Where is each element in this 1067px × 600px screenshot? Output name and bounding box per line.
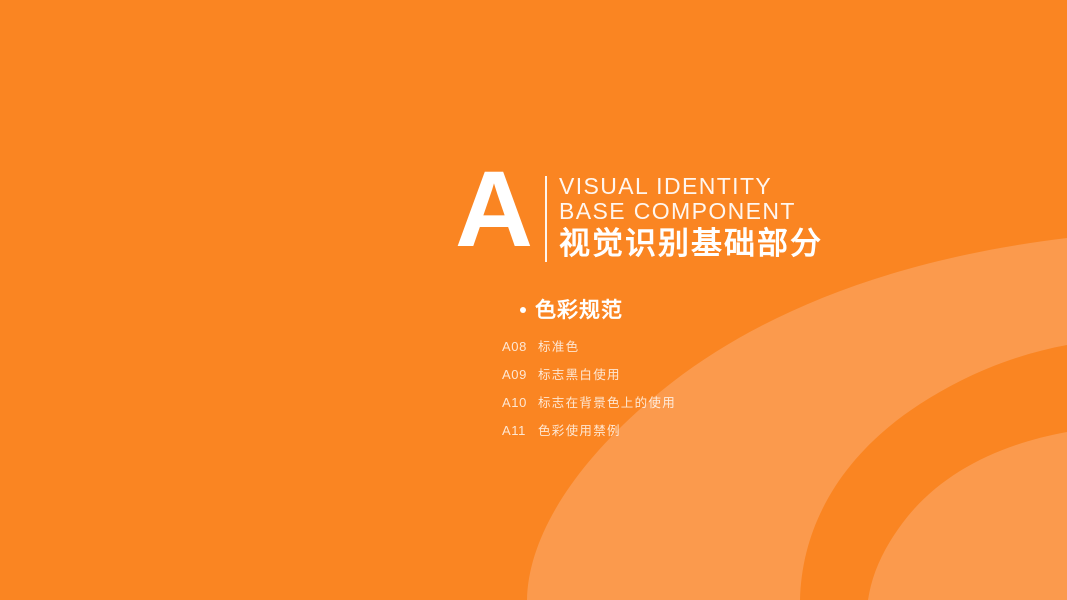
swirl-inner-core: [868, 432, 1067, 600]
section-letter: A: [455, 166, 545, 252]
list-item[interactable]: A11 色彩使用禁例: [502, 420, 676, 448]
list-item-code: A09: [502, 367, 538, 382]
chinese-title: 视觉识别基础部分: [559, 225, 823, 263]
bullet-dot-icon: [520, 307, 526, 313]
heading-text-group: VISUAL IDENTITY BASE COMPONENT 视觉识别基础部分: [547, 172, 823, 263]
list-item-label: 标志在背景色上的使用: [538, 392, 676, 411]
contents-list: A08 标准色 A09 标志黑白使用 A10 标志在背景色上的使用 A11 色彩…: [502, 336, 676, 448]
english-title-line-1: VISUAL IDENTITY: [559, 174, 823, 199]
english-title-line-2: BASE COMPONENT: [559, 199, 823, 224]
list-item[interactable]: A09 标志黑白使用: [502, 364, 676, 392]
list-item-label: 标准色: [538, 336, 579, 355]
list-item[interactable]: A08 标准色: [502, 336, 676, 364]
section-heading-label: 色彩规范: [535, 298, 623, 322]
list-item-label: 标志黑白使用: [538, 364, 621, 383]
slide-canvas: A VISUAL IDENTITY BASE COMPONENT 视觉识别基础部…: [0, 0, 1067, 600]
list-item-code: A10: [502, 395, 538, 410]
list-item[interactable]: A10 标志在背景色上的使用: [502, 392, 676, 420]
heading-lockup: A VISUAL IDENTITY BASE COMPONENT 视觉识别基础部…: [455, 172, 823, 263]
list-item-label: 色彩使用禁例: [538, 420, 621, 439]
list-item-code: A11: [502, 423, 538, 438]
section-heading: 色彩规范: [520, 298, 623, 322]
list-item-code: A08: [502, 339, 538, 354]
